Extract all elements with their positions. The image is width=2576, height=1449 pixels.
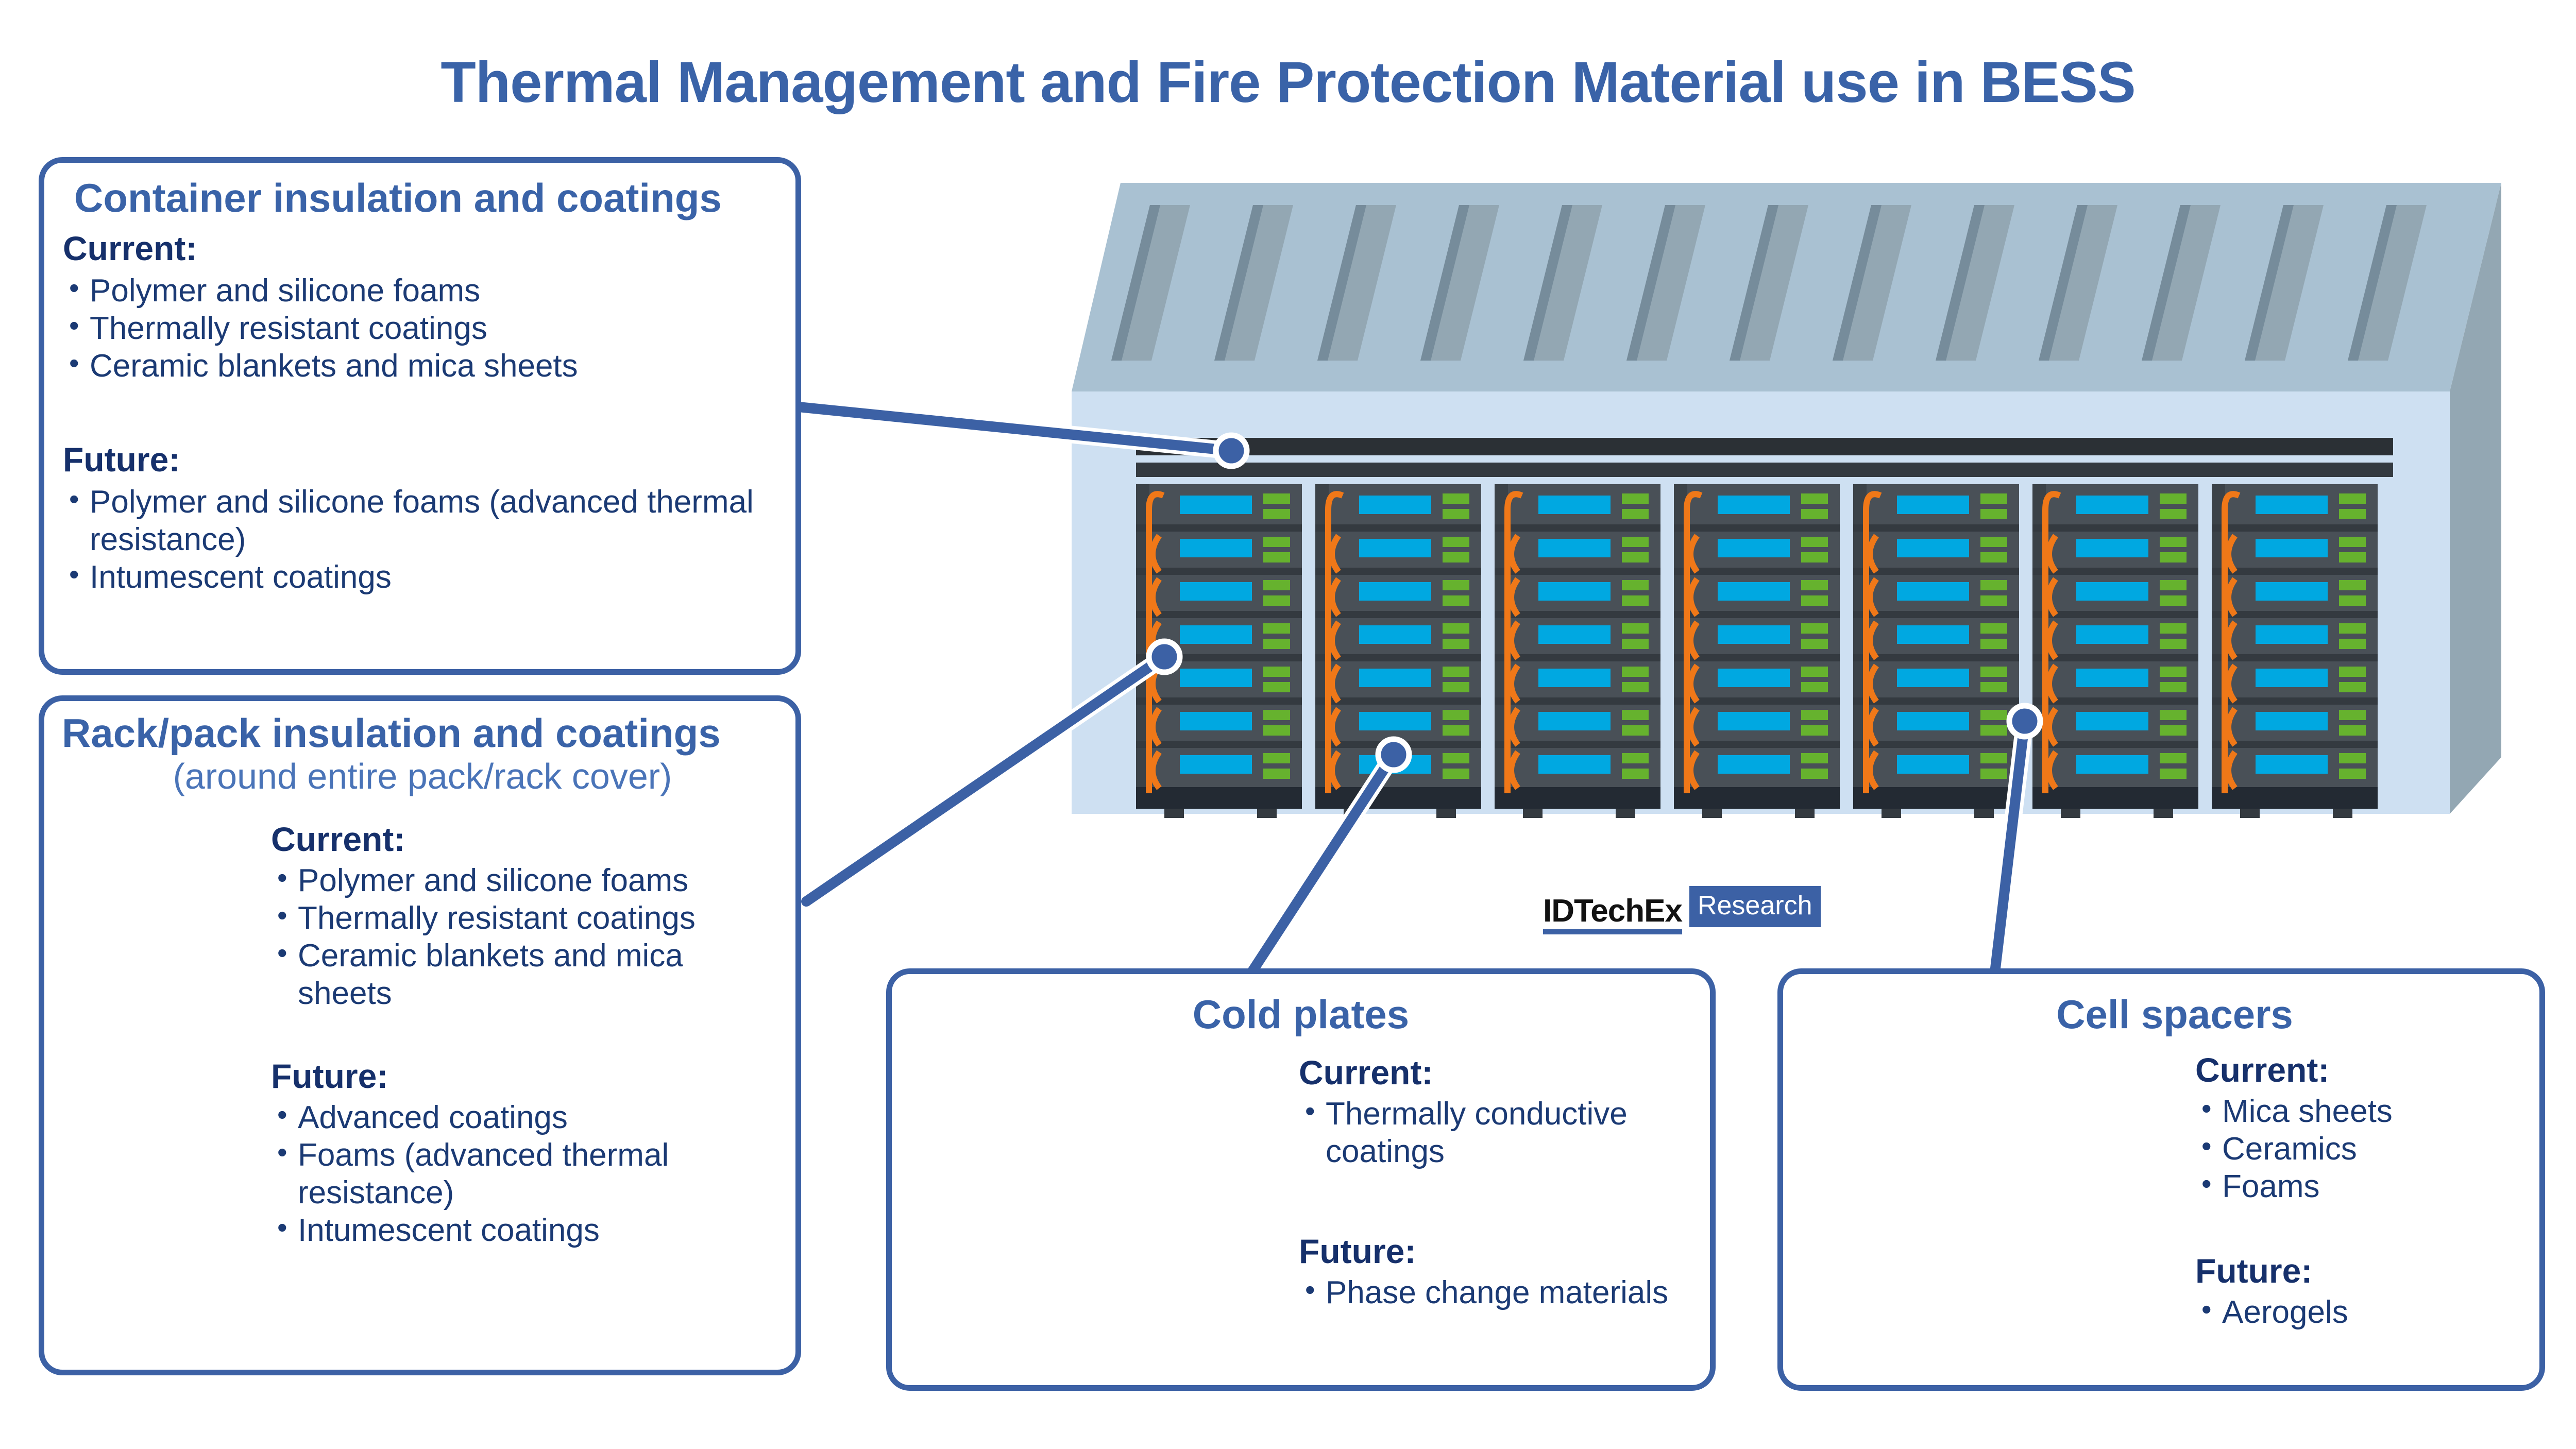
panel-cold-plates[interactable]: Cold plates Current: Thermally conductiv… <box>886 968 1716 1391</box>
list-item: Ceramic blankets and mica sheets <box>63 347 784 385</box>
panel-cellspacers-title: Cell spacers <box>1943 994 2406 1036</box>
infographic-stage: Thermal Management and Fire Protection M… <box>0 0 2576 1449</box>
rackpack-current-list: Polymer and silicone foams Thermally res… <box>271 862 781 1013</box>
list-item: Intumescent coatings <box>271 1212 781 1249</box>
rack-column <box>1674 484 1840 818</box>
list-item: Polymer and silicone foams (advanced the… <box>63 483 784 558</box>
cellspacers-current-list: Mica sheets Ceramics Foams <box>2195 1093 2525 1205</box>
list-item: Thermally conductive coatings <box>1299 1095 1690 1170</box>
container-current-label: Current: <box>63 230 197 267</box>
container-future-list: Polymer and silicone foams (advanced the… <box>63 483 784 596</box>
list-item: Aerogels <box>2195 1293 2525 1331</box>
list-item: Ceramic blankets and mica sheets <box>271 937 781 1012</box>
rack-column <box>2212 484 2378 818</box>
bess-container-illustration <box>1072 183 2501 818</box>
coldplates-future-list: Phase change materials <box>1299 1274 1690 1311</box>
list-item: Advanced coatings <box>271 1099 781 1136</box>
cellspacers-future-list: Aerogels <box>2195 1293 2525 1331</box>
list-item: Thermally resistant coatings <box>63 310 784 347</box>
panel-container-title: Container insulation and coatings <box>74 177 722 219</box>
cellspacers-current-label: Current: <box>2195 1051 2329 1089</box>
logo-company-name: IDTechEx <box>1543 895 1682 927</box>
list-item: Ceramics <box>2195 1130 2525 1168</box>
container-current-list: Polymer and silicone foams Thermally res… <box>63 272 784 385</box>
list-item: Intumescent coatings <box>63 558 784 596</box>
list-item: Foams (advanced thermal resistance) <box>271 1136 781 1212</box>
logo-product-badge: Research <box>1689 886 1821 927</box>
coldplates-future-label: Future: <box>1299 1233 1416 1270</box>
panel-rackpack-subtitle: (around entire pack/rack cover) <box>62 758 783 796</box>
list-item: Polymer and silicone foams <box>271 862 781 899</box>
roof-vents <box>1111 205 2427 361</box>
rackpack-current-label: Current: <box>271 821 405 858</box>
panel-container-insulation[interactable]: Container insulation and coatings Curren… <box>39 157 801 675</box>
idtechex-logo: IDTechEx Research <box>1543 886 1821 927</box>
panel-cell-spacers[interactable]: Cell spacers Current: Mica sheets Cerami… <box>1777 968 2545 1391</box>
page-title: Thermal Management and Fire Protection M… <box>0 49 2576 115</box>
rack-column <box>1495 484 1660 818</box>
logo-name-wrap: IDTechEx <box>1543 895 1689 927</box>
connector-lines <box>799 407 2040 981</box>
coldplates-current-label: Current: <box>1299 1054 1433 1092</box>
cellspacers-future-label: Future: <box>2195 1252 2312 1290</box>
list-item: Mica sheets <box>2195 1093 2525 1130</box>
list-item: Polymer and silicone foams <box>63 272 784 310</box>
container-future-label: Future: <box>63 441 180 479</box>
logo-underline <box>1543 929 1682 934</box>
rack-column <box>1136 484 1302 818</box>
rackpack-future-list: Advanced coatings Foams (advanced therma… <box>271 1099 781 1250</box>
rack-column <box>1853 484 2019 818</box>
list-item: Phase change materials <box>1299 1274 1690 1311</box>
rack-column <box>1315 484 1481 818</box>
list-item: Foams <box>2195 1168 2525 1205</box>
coldplates-current-list: Thermally conductive coatings <box>1299 1095 1690 1170</box>
panel-coldplates-title: Cold plates <box>892 994 1710 1036</box>
panel-rackpack-title: Rack/pack insulation and coatings <box>62 712 721 755</box>
rackpack-future-label: Future: <box>271 1058 388 1095</box>
rack-column <box>2032 484 2198 818</box>
list-item: Thermally resistant coatings <box>271 899 781 937</box>
rack-column-group <box>1136 484 2378 818</box>
panel-rackpack-insulation[interactable]: Rack/pack insulation and coatings (aroun… <box>39 695 801 1375</box>
